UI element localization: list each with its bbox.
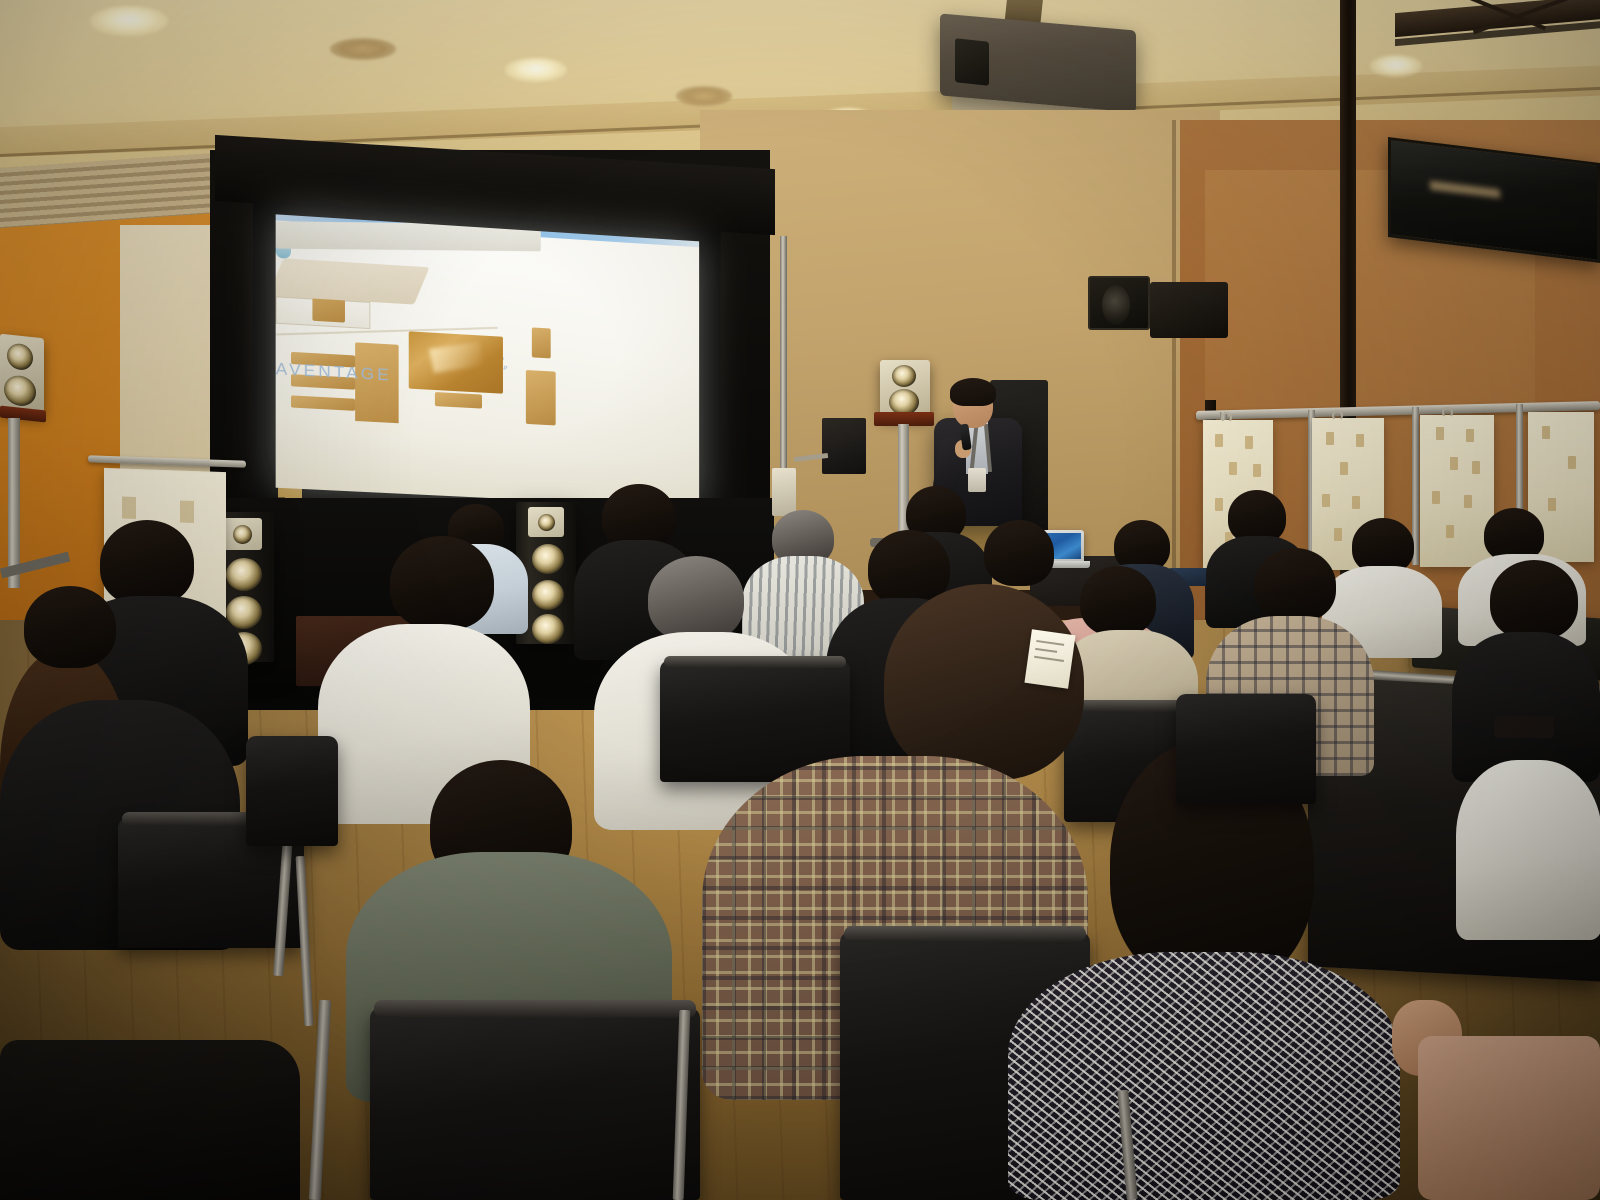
audience-head-mid-5 [984, 520, 1054, 586]
audience-head-mid-3 [648, 556, 744, 642]
chair-front-center-1 [370, 1008, 700, 1200]
downlight-6 [330, 38, 396, 60]
board-hook-1 [1221, 412, 1232, 423]
eyeglasses-icon [1494, 716, 1554, 738]
wall-mounted-speaker [1088, 276, 1150, 330]
left-board-chip-2 [180, 501, 194, 523]
tower-woofer-3-center [532, 614, 564, 644]
pole-mounted-panel [772, 468, 796, 516]
audience-body-tweed-jacket [1008, 952, 1400, 1200]
handout-paper [1024, 629, 1075, 689]
stand-speaker-right-cabinet [880, 360, 930, 418]
chair-row2-right [1176, 694, 1316, 804]
speaker-woofer [4, 374, 36, 407]
speaker-stand-pole-left [8, 418, 20, 588]
slide-vignette [276, 214, 699, 508]
tower-tweeter-plate-center [528, 507, 564, 537]
tower-tweeter-center [538, 514, 555, 531]
chair-mid-1-rim [664, 656, 846, 668]
audience-head-mid-1 [100, 520, 194, 606]
audience-head-mid-6 [1080, 566, 1156, 636]
tower-woofer-2-center [532, 580, 564, 610]
audience-head-mid-8 [1490, 560, 1578, 640]
board-hook-2 [1332, 410, 1343, 421]
wall-speaker-cone [1102, 285, 1130, 325]
tower-woofer-1-center [532, 544, 564, 574]
presenter-hair [950, 378, 996, 406]
audience-body-far-right [1456, 760, 1600, 940]
speaker-tweeter [7, 342, 33, 371]
presenter-name-badge [968, 468, 986, 492]
tower-tweeter-plate-left [222, 518, 262, 550]
audience-head-mid-2 [390, 536, 494, 630]
audience-head-front-left-2 [24, 586, 116, 668]
downlight-1 [90, 6, 168, 36]
chair-row2-left [246, 736, 338, 846]
projector-lens [955, 38, 989, 86]
stand-speaker-left-cabinet [0, 334, 44, 417]
projection-screen: 25th CINEMA DSP AVENTAGE [276, 214, 699, 508]
downlight-5 [1370, 55, 1422, 77]
hanging-display-board-3 [1420, 415, 1494, 567]
audience-head-mid-7 [1254, 548, 1336, 622]
tower-woofer-1-left [226, 558, 262, 591]
chair-front-center-1-rim [374, 1000, 696, 1018]
tower-tweeter-left [233, 525, 252, 544]
left-wall-cream-panel [120, 225, 220, 485]
foreground-dark-shape [0, 1040, 300, 1200]
wall-speaker-bracket [1150, 282, 1228, 338]
seminar-room-photo: AV product seminar in a hotel conference… [0, 0, 1600, 1200]
stage-subwoofer [822, 418, 866, 474]
left-board-chip-1 [122, 496, 136, 518]
downlight-2 [505, 58, 567, 82]
stand-speaker-right-tweeter [892, 365, 916, 387]
chair-front-center-2-rim [844, 926, 1086, 942]
vertical-pole-left-of-stage [780, 236, 787, 492]
presentation-slide: 25th CINEMA DSP AVENTAGE [276, 214, 699, 508]
audience-forearm-right [1418, 1036, 1600, 1200]
downlight-7 [676, 86, 732, 106]
board-hook-3 [1442, 407, 1453, 418]
